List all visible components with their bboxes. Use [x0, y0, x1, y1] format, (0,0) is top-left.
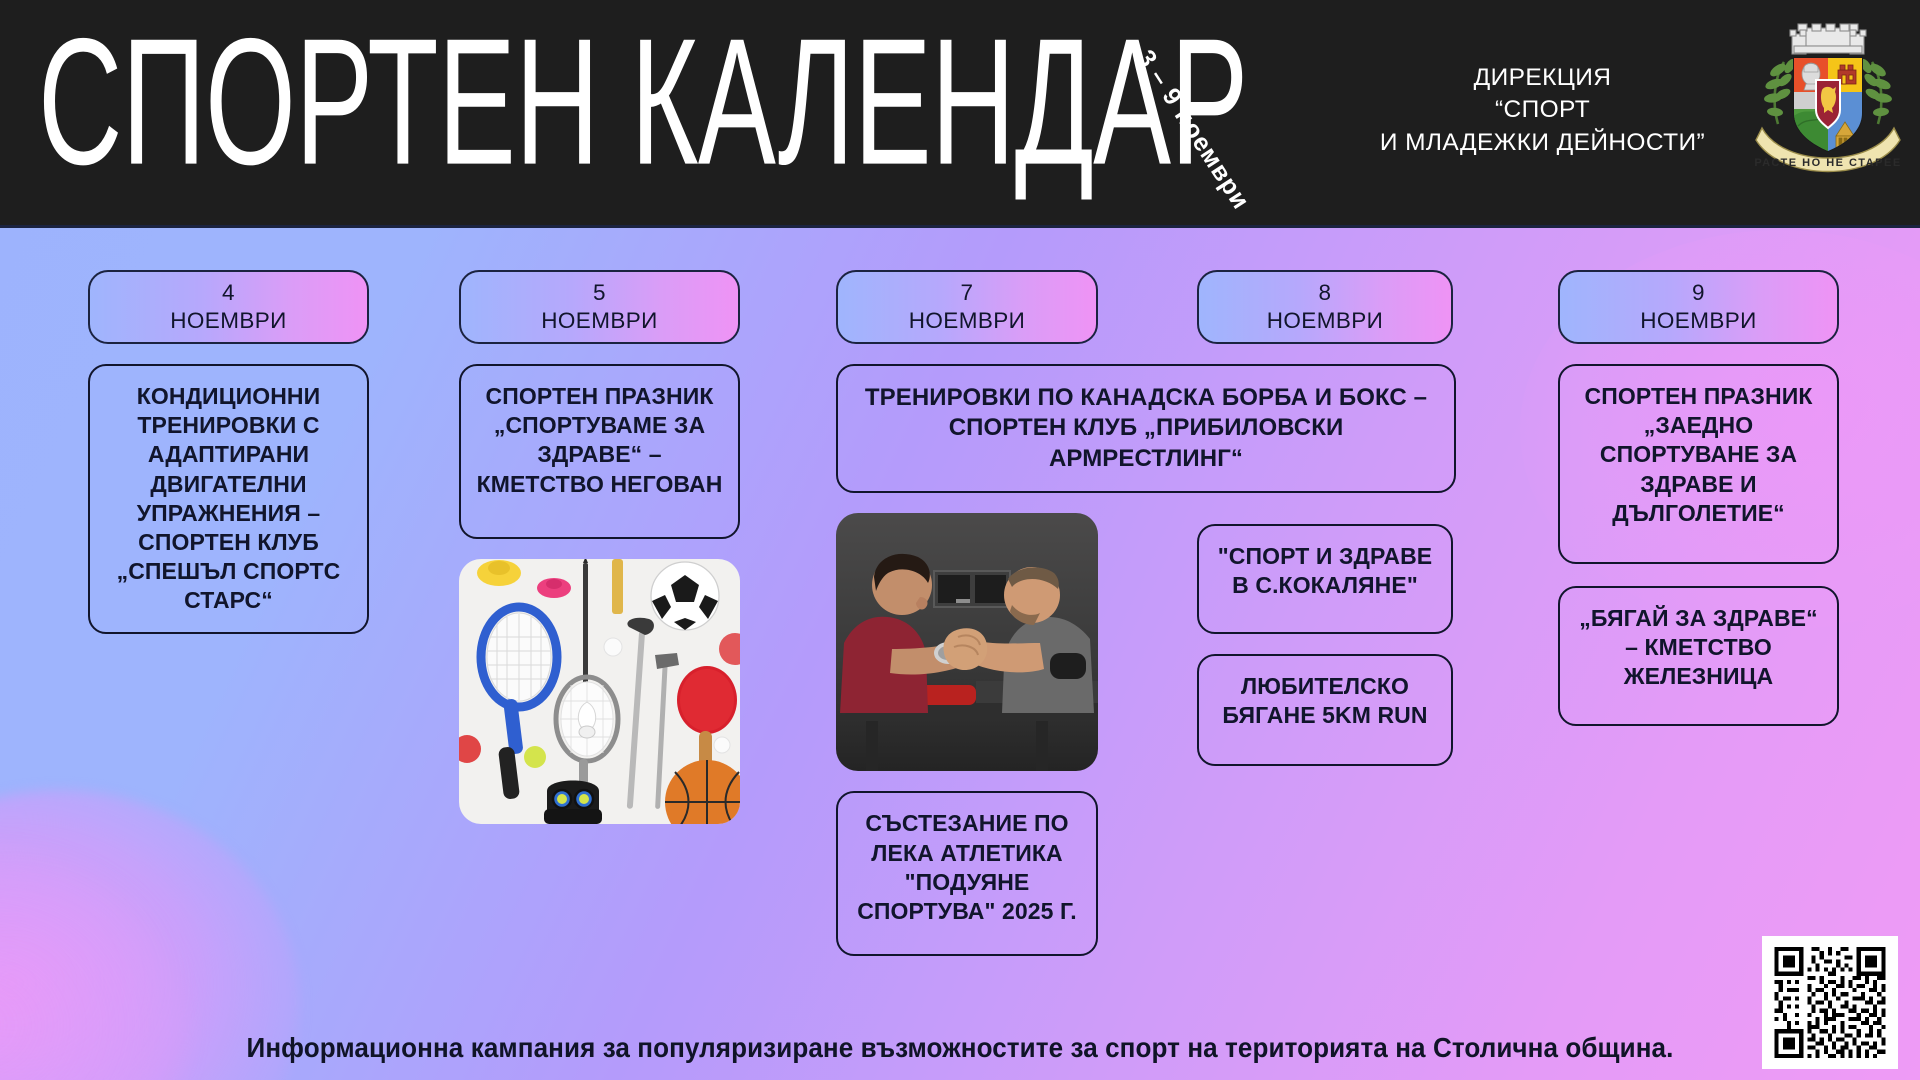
date-pill-9-month: НОЕМВРИ	[1640, 307, 1757, 335]
sports-equipment-photo	[459, 559, 740, 824]
date-pill-5[interactable]: 5 НОЕМВРИ	[459, 270, 740, 344]
date-pill-9[interactable]: 9 НОЕМВРИ	[1558, 270, 1839, 344]
arm-wrestling-photo	[836, 513, 1098, 771]
event-card[interactable]: "СПОРТ И ЗДРАВЕ В С.КОКАЛЯНЕ"	[1197, 524, 1453, 634]
event-card[interactable]: ЛЮБИТЕЛСКО БЯГАНЕ 5KM RUN	[1197, 654, 1453, 766]
day-column-4: 4 НОЕМВРИ КОНДИЦИОННИ ТРЕНИРОВКИ С АДАПТ…	[88, 270, 369, 634]
date-pill-7-month: НОЕМВРИ	[909, 307, 1026, 335]
date-pill-9-day: 9	[1692, 279, 1705, 307]
date-pill-5-month: НОЕМВРИ	[541, 307, 658, 335]
day-column-8: 8 НОЕМВРИ "СПОРТ И ЗДРАВЕ В С.КОКАЛЯНЕ" …	[1197, 270, 1453, 766]
event-card[interactable]: СПОРТЕН ПРАЗНИК „ЗАЕДНО СПОРТУВАНЕ ЗА ЗД…	[1558, 364, 1839, 564]
page-title: СПОРТЕН КАЛЕНДАР	[38, 12, 1248, 192]
poster-header: СПОРТЕН КАЛЕНДАР 3 – 9 ноември ДИРЕКЦИЯ …	[0, 0, 1920, 228]
department-line-1: ДИРЕКЦИЯ	[1355, 62, 1730, 94]
sofia-coat-of-arms-icon: РАСТЕ НО НЕ СТАРЕЕ	[1754, 18, 1902, 183]
department-block: ДИРЕКЦИЯ “СПОРТ И МЛАДЕЖКИ ДЕЙНОСТИ”	[1355, 62, 1730, 159]
date-pill-8-month: НОЕМВРИ	[1267, 307, 1384, 335]
day-column-7: 7 НОЕМВРИ ТРЕНИРОВКИ ПО КАНАДСКА БОРБА И…	[836, 270, 1098, 956]
day-column-9: 9 НОЕМВРИ СПОРТЕН ПРАЗНИК „ЗАЕДНО СПОРТУ…	[1558, 270, 1839, 726]
day-column-5: 5 НОЕМВРИ СПОРТЕН ПРАЗНИК „СПОРТУВАМЕ ЗА…	[459, 270, 740, 824]
date-pill-7-day: 7	[961, 279, 974, 307]
event-card[interactable]: СПОРТЕН ПРАЗНИК „СПОРТУВАМЕ ЗА ЗДРАВЕ“ –…	[459, 364, 740, 539]
department-line-2: “СПОРТ	[1355, 94, 1730, 126]
date-pill-4-month: НОЕМВРИ	[170, 307, 287, 335]
event-card[interactable]: СЪСТЕЗАНИЕ ПО ЛЕКА АТЛЕТИКА "ПОДУЯНЕ СПО…	[836, 791, 1098, 956]
date-pill-5-day: 5	[593, 279, 606, 307]
department-line-3: И МЛАДЕЖКИ ДЕЙНОСТИ”	[1355, 127, 1730, 159]
calendar-grid: 4 НОЕМВРИ КОНДИЦИОННИ ТРЕНИРОВКИ С АДАПТ…	[0, 228, 1920, 1008]
date-pill-4[interactable]: 4 НОЕМВРИ	[88, 270, 369, 344]
date-pill-7[interactable]: 7 НОЕМВРИ	[836, 270, 1098, 344]
date-pill-8-day: 8	[1319, 279, 1332, 307]
svg-text:РАСТЕ НО НЕ СТАРЕЕ: РАСТЕ НО НЕ СТАРЕЕ	[1754, 157, 1901, 169]
event-card[interactable]: КОНДИЦИОННИ ТРЕНИРОВКИ С АДАПТИРАНИ ДВИГ…	[88, 364, 369, 634]
footer-note: Информационна кампания за популяризиране…	[67, 1032, 1853, 1064]
sports-calendar-poster: СПОРТЕН КАЛЕНДАР 3 – 9 ноември ДИРЕКЦИЯ …	[0, 0, 1920, 1080]
date-pill-4-day: 4	[222, 279, 235, 307]
date-pill-8[interactable]: 8 НОЕМВРИ	[1197, 270, 1453, 344]
event-card[interactable]: „БЯГАЙ ЗА ЗДРАВЕ“ – КМЕТСТВО ЖЕЛЕЗНИЦА	[1558, 586, 1839, 726]
